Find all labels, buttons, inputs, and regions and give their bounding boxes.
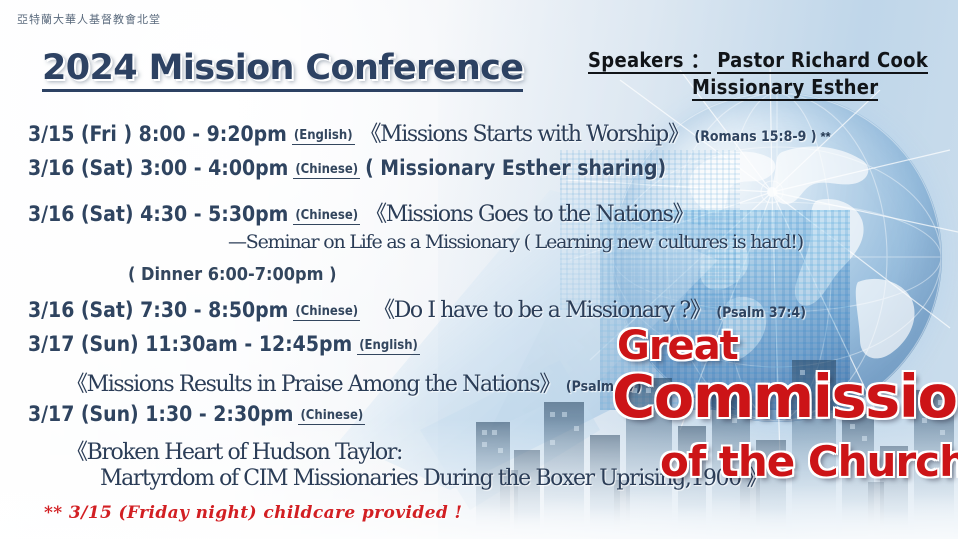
- session-datetime: 3/17 (Sun) 1:30 - 2:30pm: [28, 402, 293, 426]
- session-topic: 《Do I have to be a Missionary ?》: [373, 298, 710, 323]
- session-language: (English): [292, 128, 355, 145]
- speakers-line-2: Missionary Esther: [692, 74, 928, 101]
- schedule-row: 3/16 (Sat) 3:00 - 4:00pm(Chinese)( Missi…: [28, 156, 666, 180]
- schedule-row-topic: 《Missions Results in Praise Among the Na…: [66, 366, 642, 398]
- session-language: (Chinese): [293, 162, 360, 179]
- great-commission-line-2: Commission: [612, 362, 958, 431]
- session-topic: 《Missions Results in Praise Among the Na…: [66, 372, 560, 397]
- session-language: (English): [357, 338, 420, 355]
- session-datetime: 3/16 (Sat) 3:00 - 4:00pm: [28, 156, 288, 180]
- speakers-line-1: Speakers ： Pastor Richard Cook: [588, 47, 928, 74]
- schedule-row: 3/15 (Fri ) 8:00 - 9:20pm(English)《Missi…: [28, 116, 831, 148]
- dinner-text: ( Dinner 6:00-7:00pm ): [128, 264, 337, 285]
- schedule-row: 3/16 (Sat) 7:30 - 8:50pm(Chinese)《Do I h…: [28, 292, 806, 324]
- schedule-row: 3/17 (Sun) 11:30am - 12:45pm(English): [28, 332, 425, 356]
- session-reference: (Psalm 37:4): [716, 305, 806, 321]
- session-datetime: 3/16 (Sat) 7:30 - 8:50pm: [28, 298, 288, 322]
- great-commission-line-3: of the Church: [660, 437, 958, 486]
- session-language: (Chinese): [293, 208, 360, 225]
- session-language: (Chinese): [293, 304, 360, 321]
- schedule-row: 3/17 (Sun) 1:30 - 2:30pm(Chinese): [28, 402, 370, 426]
- mission-conference-poster: 亞特蘭大華人基督教會北堂 2024 Mission Conference Spe…: [0, 0, 958, 539]
- speakers-label: Speakers ：: [588, 48, 711, 74]
- schedule-row-subtitle: —Seminar on Life as a Missionary ( Learn…: [228, 231, 803, 253]
- session-language: (Chinese): [298, 408, 365, 425]
- session-topic: 《Missions Starts with Worship》: [360, 122, 689, 147]
- session-reference: (Romans 15:8-9 ): [694, 129, 816, 145]
- childcare-note: ** 3/15 (Friday night) childcare provide…: [44, 503, 462, 523]
- schedule-row: 3/16 (Sat) 4:30 - 5:30pm(Chinese)《Missio…: [28, 196, 693, 228]
- session-datetime: 3/15 (Fri ) 8:00 - 9:20pm: [28, 122, 287, 146]
- speakers-block: Speakers ： Pastor Richard Cook Missionar…: [588, 47, 928, 101]
- speaker-name-2: Missionary Esther: [692, 75, 878, 101]
- session-datetime: 3/16 (Sat) 4:30 - 5:30pm: [28, 202, 288, 226]
- page-title-text: 2024 Mission Conference: [42, 48, 523, 92]
- poster-content: 亞特蘭大華人基督教會北堂 2024 Mission Conference Spe…: [0, 0, 958, 539]
- session-marker: **: [820, 129, 830, 144]
- session-topic: 《Missions Goes to the Nations》: [365, 202, 693, 227]
- session-topic: ( Missionary Esther sharing): [365, 156, 666, 180]
- session-subtitle: —Seminar on Life as a Missionary ( Learn…: [228, 231, 803, 253]
- church-name: 亞特蘭大華人基督教會北堂: [17, 11, 161, 27]
- dinner-row: ( Dinner 6:00-7:00pm ): [128, 264, 337, 285]
- page-title: 2024 Mission Conference: [42, 48, 523, 88]
- session-datetime: 3/17 (Sun) 11:30am - 12:45pm: [28, 332, 352, 356]
- speaker-name-1: Pastor Richard Cook: [717, 48, 928, 74]
